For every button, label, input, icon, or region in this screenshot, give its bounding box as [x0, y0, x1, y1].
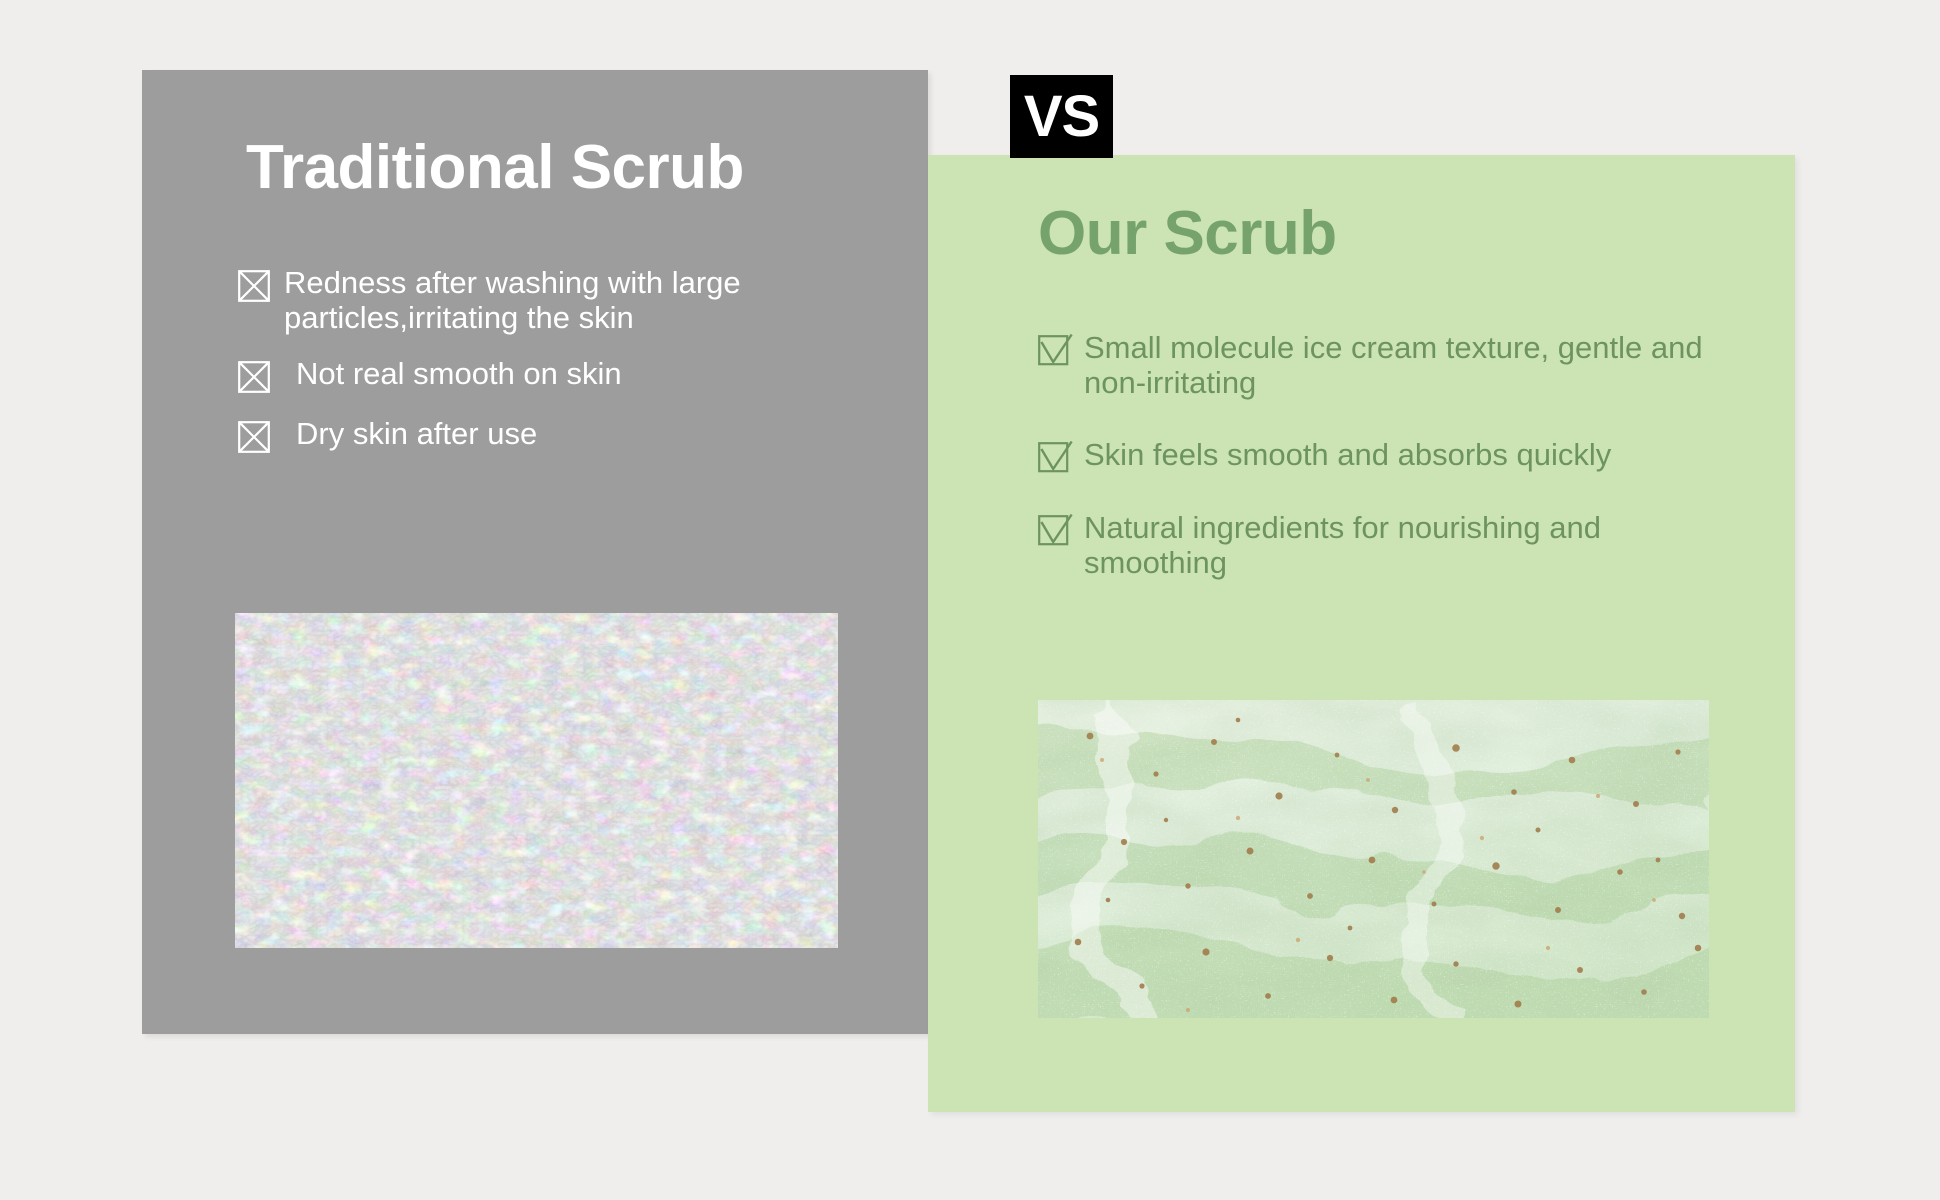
list-item: Not real smooth on skin — [238, 357, 898, 393]
x-box-icon — [238, 421, 270, 453]
x-box-icon — [238, 361, 270, 393]
traditional-scrub-panel: Traditional Scrub Redness after washing … — [142, 70, 928, 1034]
our-scrub-green-cream-texture-image — [1038, 700, 1709, 1018]
list-item-label: Skin feels smooth and absorbs quickly — [1084, 437, 1611, 472]
list-item: Redness after washing with large particl… — [238, 266, 898, 335]
list-item-label: Small molecule ice cream texture, gentle… — [1084, 330, 1738, 401]
our-scrub-title: Our Scrub — [1038, 198, 1337, 269]
check-box-icon — [1038, 335, 1072, 367]
check-box-icon — [1038, 442, 1072, 474]
check-box-icon — [1038, 515, 1072, 547]
list-item: Dry skin after use — [238, 417, 898, 453]
list-item-label: Not real smooth on skin — [284, 357, 622, 392]
our-scrub-panel: Our Scrub Small molecule ice cream textu… — [928, 155, 1795, 1112]
list-item: Natural ingredients for nourishing and s… — [1038, 510, 1738, 581]
list-item-label: Redness after washing with large particl… — [284, 266, 898, 335]
traditional-scrub-salt-texture-image — [235, 613, 838, 948]
vs-badge: VS — [1010, 75, 1113, 158]
traditional-scrub-title: Traditional Scrub — [246, 132, 744, 203]
comparison-infographic: Traditional Scrub Redness after washing … — [0, 0, 1940, 1200]
list-item-label: Natural ingredients for nourishing and s… — [1084, 510, 1738, 581]
list-item: Skin feels smooth and absorbs quickly — [1038, 437, 1738, 474]
x-box-icon — [238, 270, 270, 302]
traditional-scrub-bullet-list: Redness after washing with large particl… — [238, 266, 898, 475]
list-item-label: Dry skin after use — [284, 417, 537, 452]
list-item: Small molecule ice cream texture, gentle… — [1038, 330, 1738, 401]
our-scrub-bullet-list: Small molecule ice cream texture, gentle… — [1038, 330, 1738, 616]
